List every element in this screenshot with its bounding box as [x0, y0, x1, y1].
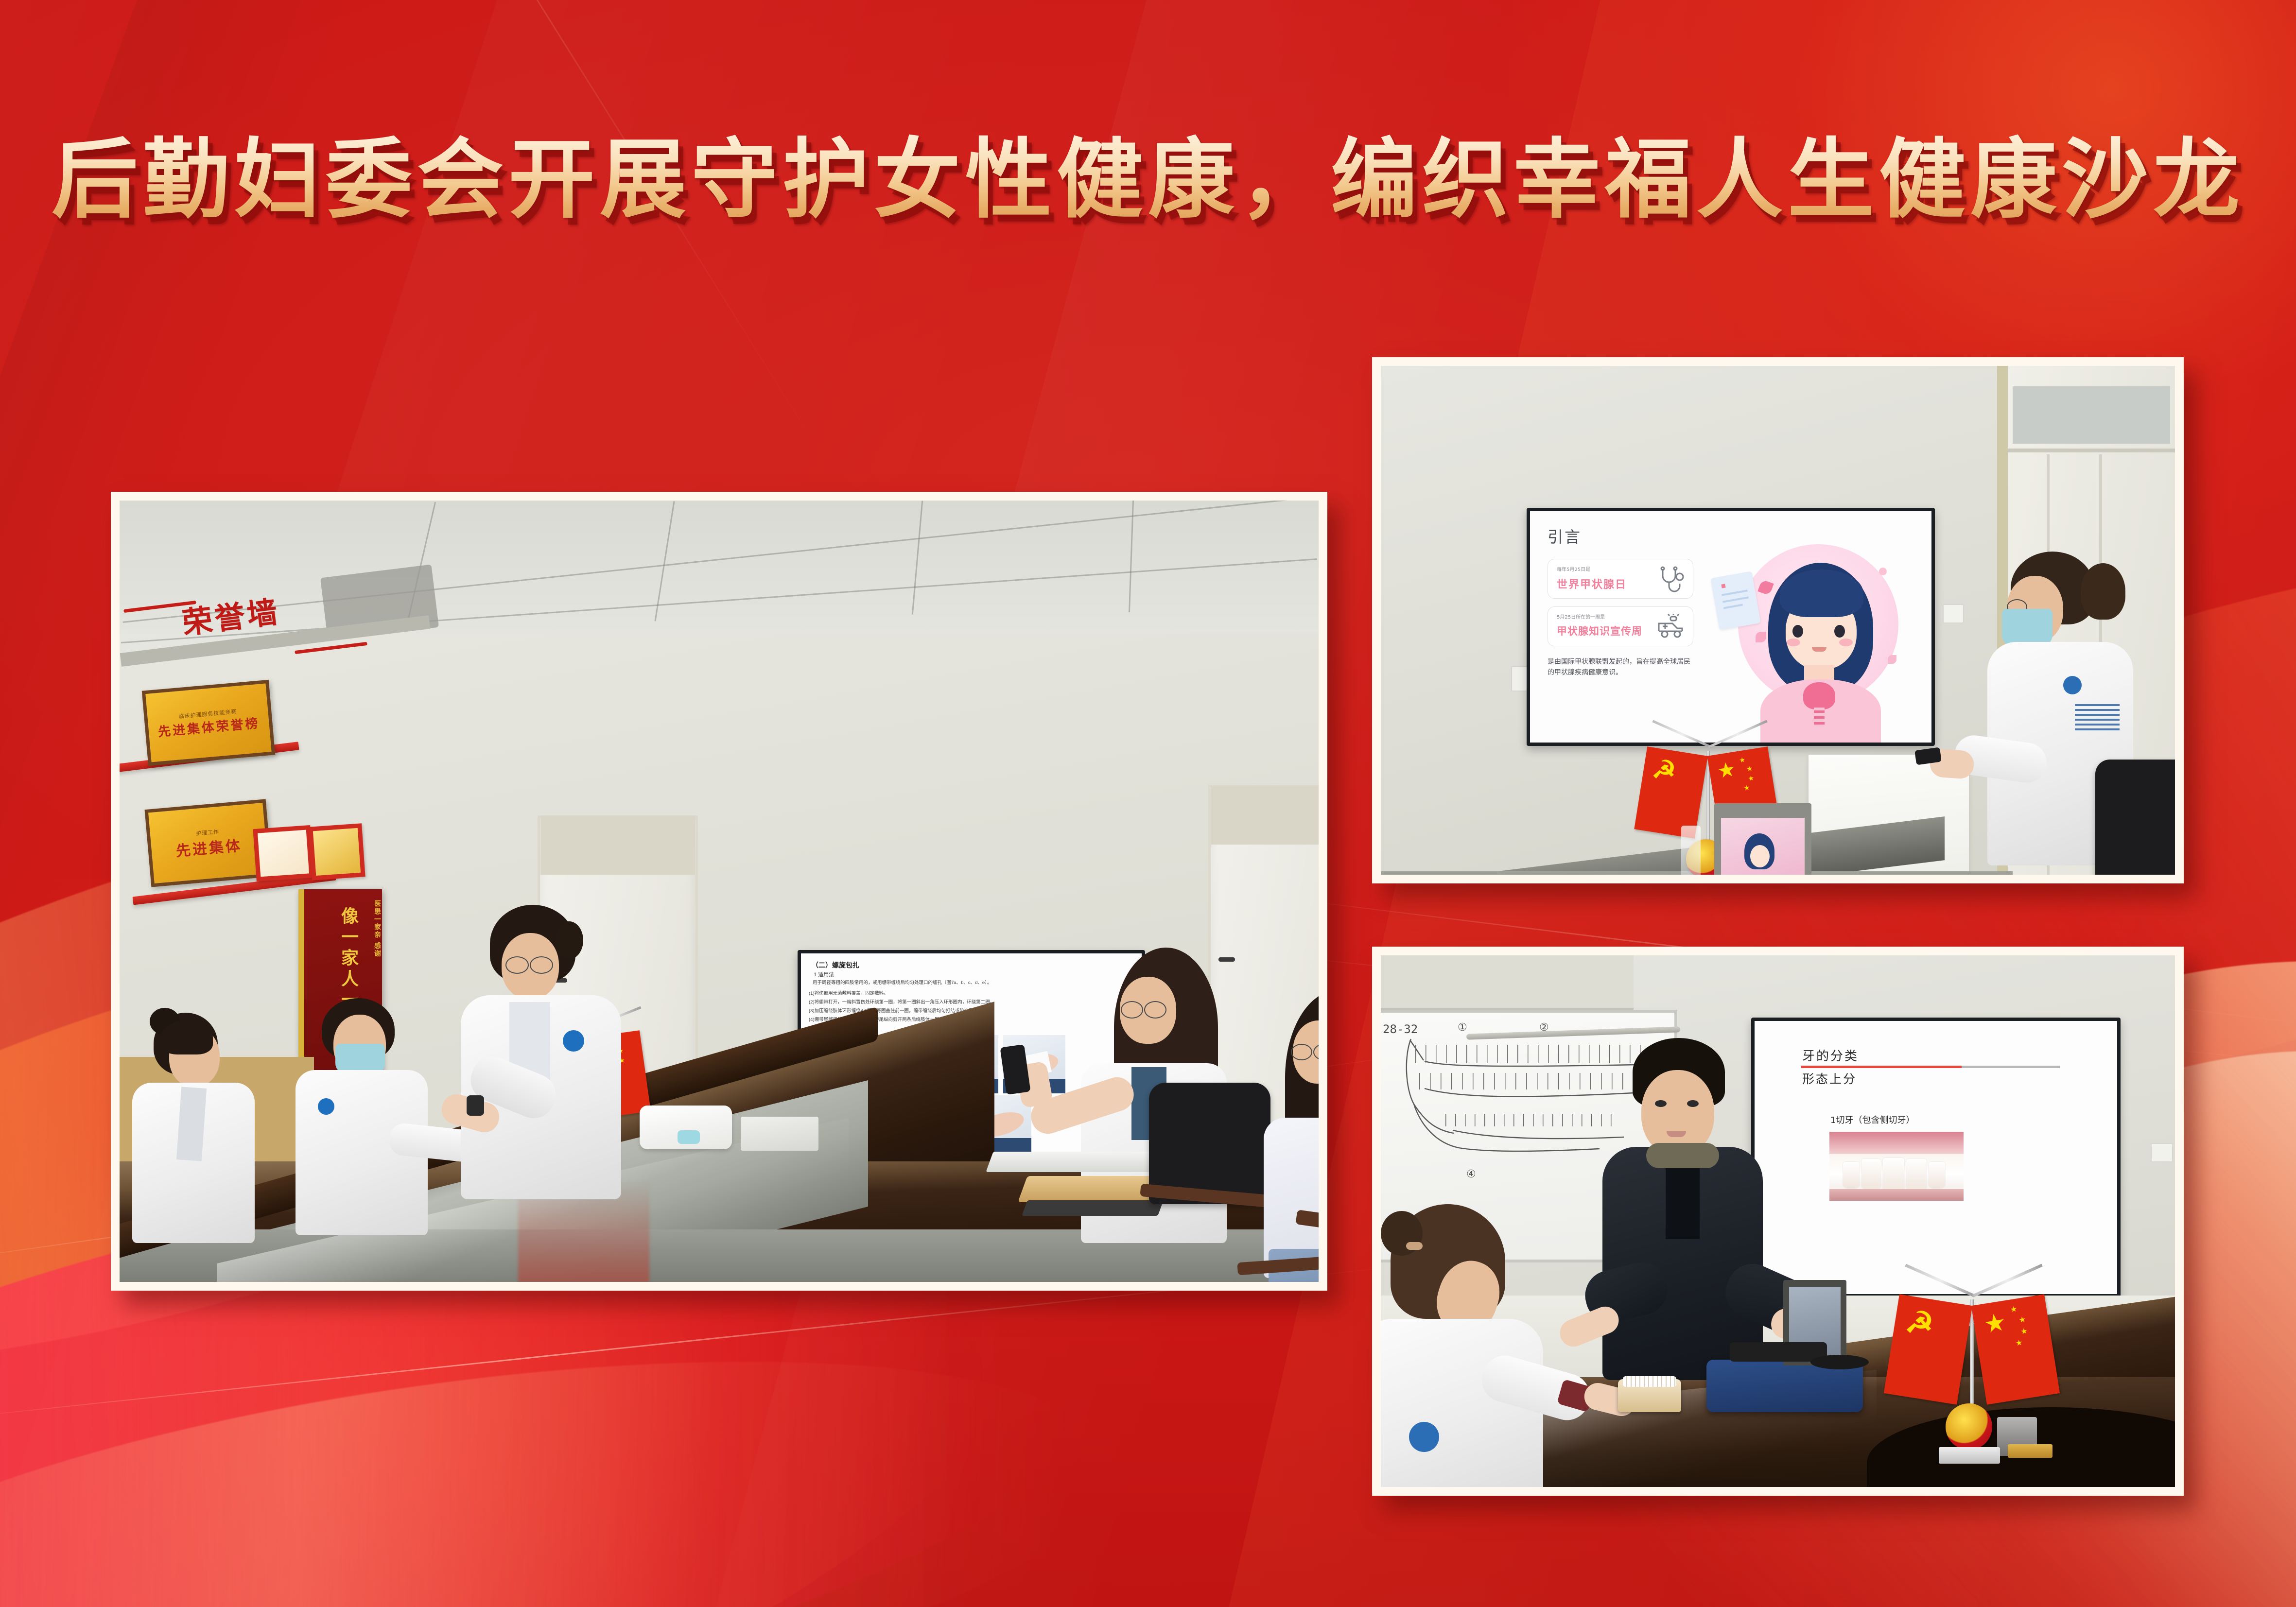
card2-title: 甲状腺知识宣传周 [1557, 623, 1642, 638]
light-switch[interactable] [2151, 1143, 2173, 1162]
slide-sub: 1 适用法 [814, 970, 834, 978]
thyroid-week-card: 5月25日所在的一周是 甲状腺知识宣传周 [1548, 606, 1693, 646]
presentation-screen-thyroid: 引言 每年5月25日是 世界甲状腺日 5月25日所在的一周是 [1527, 508, 1935, 746]
poster-canvas: 后勤妇委会开展守护女性健康，编织幸福人生健康沙龙 荣誉墙 临床护理服务技能竞赛 … [0, 0, 2296, 1607]
ambulance-icon [1657, 614, 1686, 641]
photo-bandaging-demonstration-meeting: 荣誉墙 临床护理服务技能竞赛 先进集体荣誉榜 护理工作 先进集体 像一家人一样 … [111, 492, 1327, 1291]
nurse-demonstrating-bandage [455, 905, 659, 1245]
cpc-emblem-icon: ☭ [1904, 1306, 1936, 1341]
national-flag-dental: ★ ★ ★ ★ ★ [1971, 1294, 2060, 1404]
page-title: 后勤妇委会开展守护女性健康，编织幸福人生健康沙龙 [52, 131, 2244, 228]
photo-thyroid-health-lecture: 引言 每年5月25日是 世界甲状腺日 5月25日所在的一周是 [1372, 357, 2184, 883]
flag-star-small: ★ [2020, 1328, 2028, 1336]
photo-dental-scene: 28-32 ① ② ④ [1381, 955, 2175, 1487]
flag-star-big: ★ [1716, 759, 1737, 781]
poster-title-wrap: 后勤妇委会开展守护女性健康，编织幸福人生健康沙龙 [0, 131, 2296, 228]
slide-body-text: 是由国际甲状腺联盟发起的，旨在提高全球居民的甲状腺疾病健康意识。 [1548, 657, 1693, 678]
participant-seated-middle-right [1267, 986, 1319, 1282]
slide-thyroid: 引言 每年5月25日是 世界甲状腺日 5月25日所在的一周是 [1530, 511, 1931, 743]
light-switch[interactable] [1943, 604, 1964, 623]
photo-thyroid-scene: 引言 每年5月25日是 世界甲状腺日 5月25日所在的一周是 [1381, 366, 2175, 875]
card1-small-text: 每年5月25日是 [1557, 565, 1590, 572]
flag-star-small: ★ [2010, 1306, 2018, 1314]
face-mask [335, 1044, 385, 1074]
cpc-flag-thyroid: ☭ [1634, 746, 1707, 839]
card1-title: 世界甲状腺日 [1557, 576, 1627, 591]
flag-star-small: ★ [2018, 1316, 2027, 1325]
plaque-advanced-collective-honor: 临床护理服务技能竞赛 先进集体荣誉榜 [142, 680, 276, 766]
flag-star-small: ★ [1748, 774, 1755, 782]
desk-flag-set-dental: ☭ ★ ★ ★ ★ ★ [1886, 1276, 2061, 1470]
plaque-main-text-2: 先进集体 [175, 833, 243, 861]
student-examining-tooth-model [1381, 1204, 1585, 1487]
participant-seated-left [124, 1006, 270, 1259]
photo-main-scene: 荣誉墙 临床护理服务技能竞赛 先进集体荣誉榜 护理工作 先进集体 像一家人一样 … [120, 501, 1319, 1282]
banner-side-text: 医患一家亲 感谢 [372, 900, 382, 958]
slide-heading: 引言 [1548, 525, 1582, 547]
flag-star-big: ★ [1982, 1310, 2007, 1337]
card2-small-text: 5月25日所在的一周是 [1557, 613, 1605, 620]
thyroid-illustration [1709, 539, 1928, 739]
plaque-advanced-collective: 护理工作 先进集体 [145, 799, 273, 887]
thyroid-day-card: 每年5月25日是 世界甲状腺日 [1548, 559, 1693, 599]
flag-star-small: ★ [1743, 784, 1750, 792]
party-emblem-medal [1946, 1403, 1992, 1450]
plaque-main-text: 先进集体荣誉榜 [157, 713, 260, 740]
flag-star-small: ★ [1746, 765, 1753, 773]
tooth-photo [1829, 1132, 1964, 1201]
flag-star-small: ★ [1739, 756, 1746, 764]
slide-heading: （二）螺旋包扎 [812, 960, 859, 970]
cpc-emblem-icon: ☭ [1651, 756, 1678, 785]
cpc-flag-dental: ☭ [1884, 1294, 1972, 1404]
face-mask [2002, 609, 2052, 646]
photo-dental-classification-lecture: 28-32 ① ② ④ [1372, 947, 2184, 1496]
stethoscope-icon [1658, 566, 1686, 593]
flag-star-small: ★ [2015, 1339, 2023, 1348]
